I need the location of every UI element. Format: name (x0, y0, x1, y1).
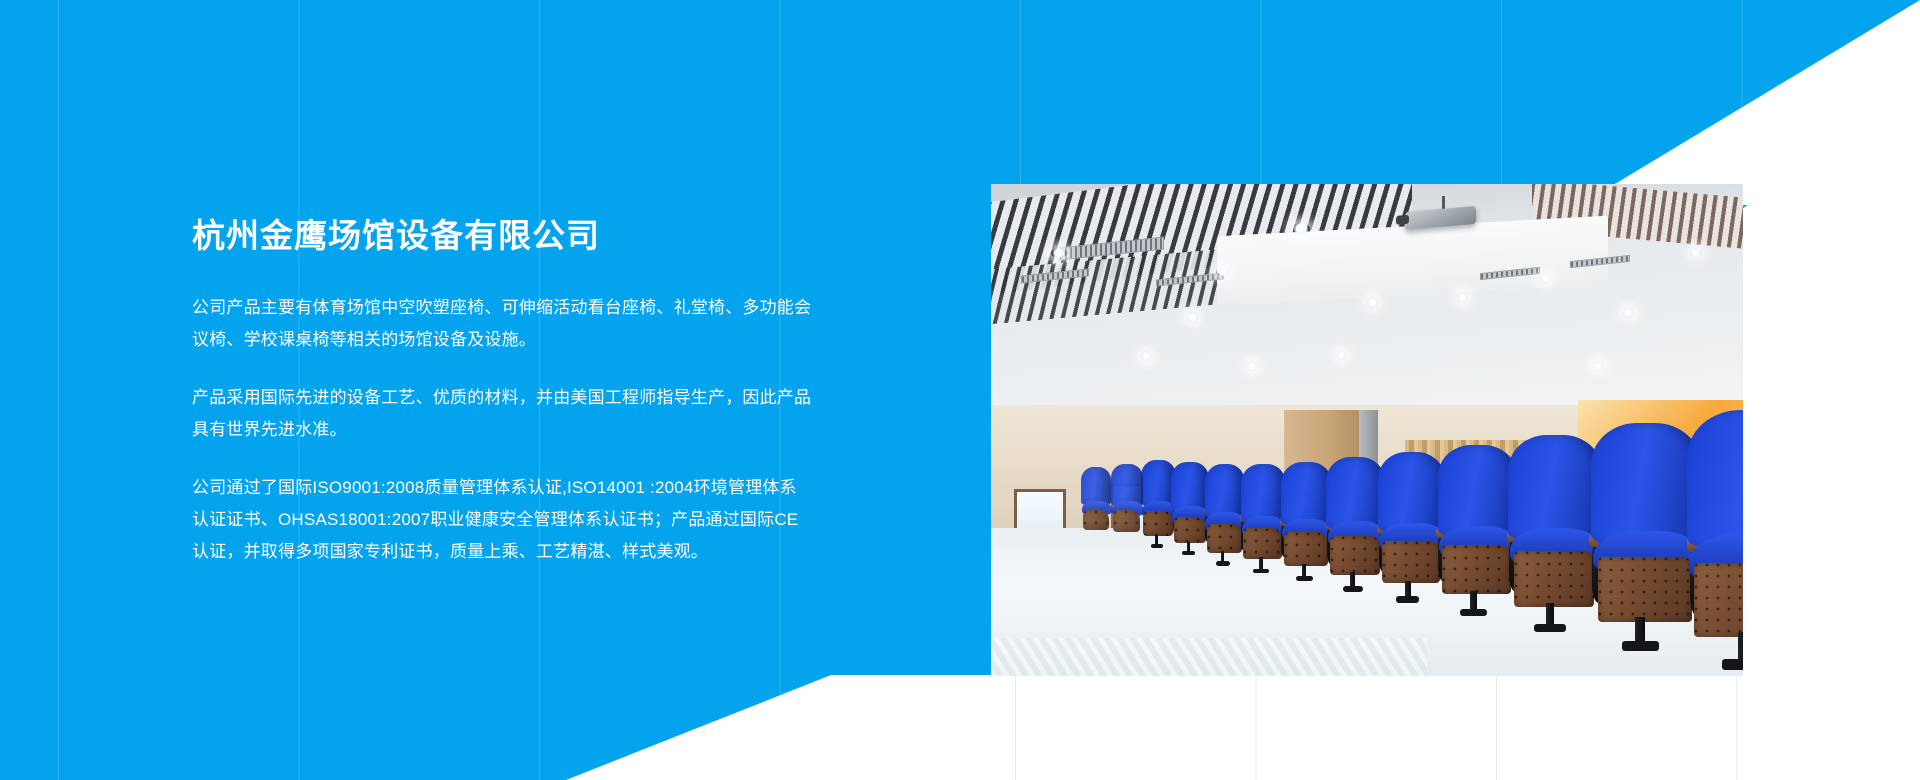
hero-paragraph-2: 产品采用国际先进的设备工艺、优质的材料，并由美国工程师指导生产，因此产品具有世界… (192, 382, 812, 446)
ceiling-light (1593, 361, 1603, 371)
seat (1378, 452, 1446, 595)
seat (1508, 435, 1601, 622)
seat (1241, 464, 1286, 567)
photo-content (991, 184, 1743, 676)
ceiling-light (1187, 312, 1198, 323)
ceiling-light (1051, 248, 1067, 258)
floor-reflection (991, 638, 1427, 676)
seat (1281, 462, 1332, 575)
auditorium-photo (991, 184, 1743, 676)
seat (1591, 423, 1701, 639)
ceiling-light (1217, 268, 1229, 276)
hero-paragraph-1: 公司产品主要有体育场馆中空吹塑座椅、可伸缩活动看台座椅、礼堂椅、多功能会议椅、学… (192, 292, 812, 356)
seat (1687, 410, 1743, 656)
hero-banner: 杭州金鹰场馆设备有限公司 公司产品主要有体育场馆中空吹塑座椅、可伸缩活动看台座椅… (0, 0, 1920, 780)
ceiling-light (1540, 273, 1551, 284)
seat (1205, 464, 1246, 560)
seat (1111, 464, 1143, 538)
seat (1171, 462, 1209, 551)
seat (1081, 467, 1111, 536)
ceiling-light (1247, 361, 1257, 371)
ceiling-light (1623, 307, 1634, 318)
seat (1326, 457, 1385, 585)
page-title: 杭州金鹰场馆设备有限公司 (192, 215, 812, 256)
seat (1438, 445, 1518, 607)
column-guides-white (1015, 676, 1920, 780)
hero-text-column: 杭州金鹰场馆设备有限公司 公司产品主要有体育场馆中空吹塑座椅、可伸缩活动看台座椅… (192, 215, 812, 568)
hero-paragraph-3: 公司通过了国际ISO9001:2008质量管理体系认证,ISO14001 :20… (192, 472, 812, 568)
